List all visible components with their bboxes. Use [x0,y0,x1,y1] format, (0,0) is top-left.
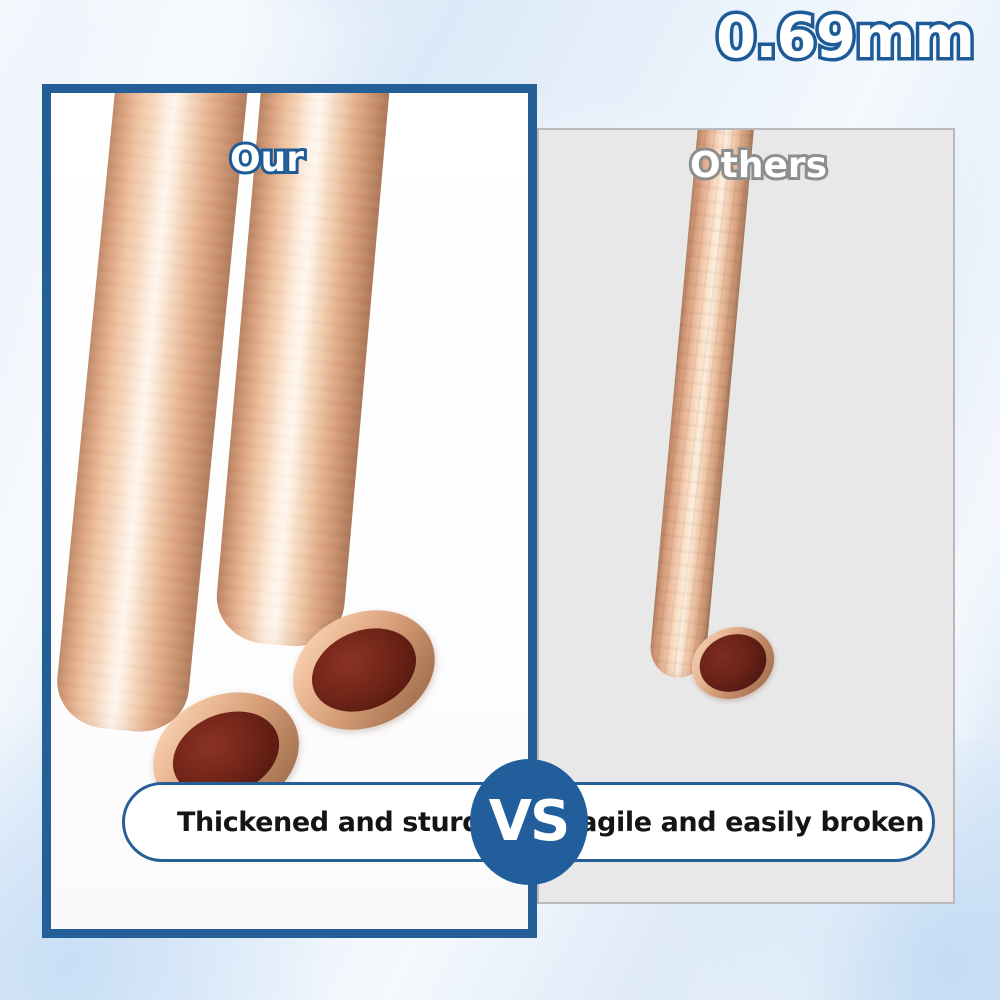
our-label: Our [230,142,304,178]
thin-tube-open-end [688,624,778,701]
thickness-badge: 0.69mm [716,8,974,66]
comparison-bar: Thickened and sturdy Fragile and easily … [122,782,935,862]
others-caption-text: Fragile and easily broken [550,807,924,838]
thin-copper-tube [648,130,757,680]
vs-badge: VS [470,759,588,885]
thick-copper-tube-left [53,93,251,736]
tube-grain-left [53,93,251,736]
thick-tube-open-end-right [286,607,441,733]
thin-tube-texture [648,130,757,680]
others-label: Others [690,148,827,184]
comparison-infographic: 0.69mm [0,0,1000,1000]
tube-sheen-left [53,93,251,736]
our-caption-text: Thickened and sturdy [177,807,498,838]
vs-label: VS [489,794,569,850]
